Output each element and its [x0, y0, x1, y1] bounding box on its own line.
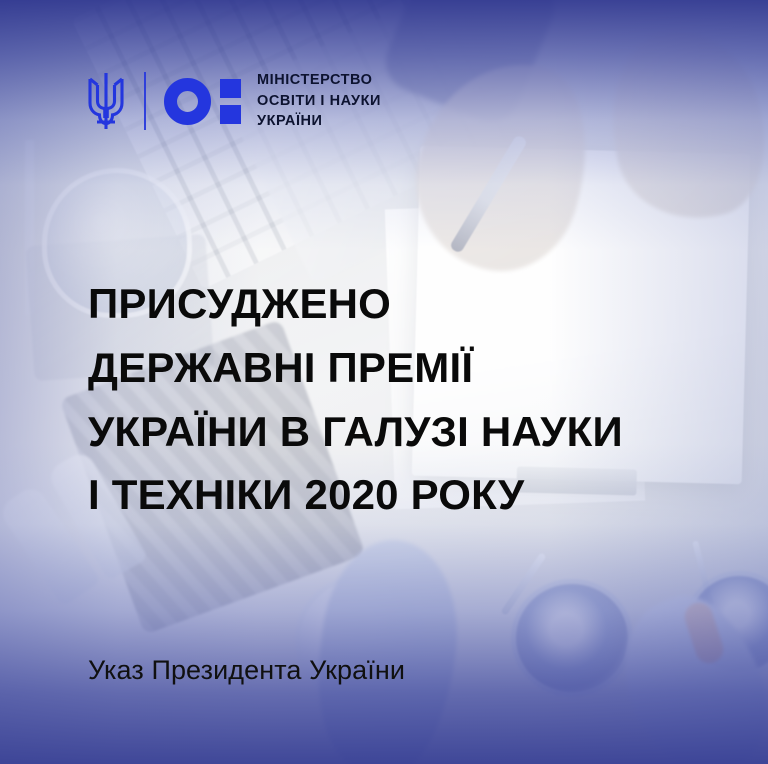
mon-square-top	[220, 79, 241, 98]
card-content: МІНІСТЕРСТВО ОСВІТИ І НАУКИ УКРАЇНИ ПРИС…	[0, 0, 768, 764]
logo-divider	[144, 72, 146, 130]
ministry-name-line-3: УКРАЇНИ	[257, 111, 381, 132]
ministry-name-line-1: МІНІСТЕРСТВО	[257, 70, 381, 91]
mon-logo-mark	[164, 78, 241, 125]
mon-colon-icon	[220, 79, 241, 124]
announcement-card: МІНІСТЕРСТВО ОСВІТИ І НАУКИ УКРАЇНИ ПРИС…	[0, 0, 768, 764]
ministry-name-block: МІНІСТЕРСТВО ОСВІТИ І НАУКИ УКРАЇНИ	[257, 70, 381, 132]
mon-ring-icon	[164, 78, 211, 125]
headline-line-2: ДЕРЖАВНІ ПРЕМІЇ	[88, 336, 623, 400]
ministry-logo-lockup: МІНІСТЕРСТВО ОСВІТИ І НАУКИ УКРАЇНИ	[84, 70, 381, 132]
subtitle: Указ Президента України	[88, 655, 405, 686]
ministry-name-line-2: ОСВІТИ І НАУКИ	[257, 91, 381, 112]
headline-line-4: І ТЕХНІКИ 2020 РОКУ	[88, 463, 623, 527]
ukrainian-trident-icon	[84, 70, 128, 132]
headline-line-1: ПРИСУДЖЕНО	[88, 272, 623, 336]
headline-line-3: УКРАЇНИ В ГАЛУЗІ НАУКИ	[88, 400, 623, 464]
mon-square-bottom	[220, 105, 241, 124]
headline: ПРИСУДЖЕНО ДЕРЖАВНІ ПРЕМІЇ УКРАЇНИ В ГАЛ…	[88, 272, 623, 527]
